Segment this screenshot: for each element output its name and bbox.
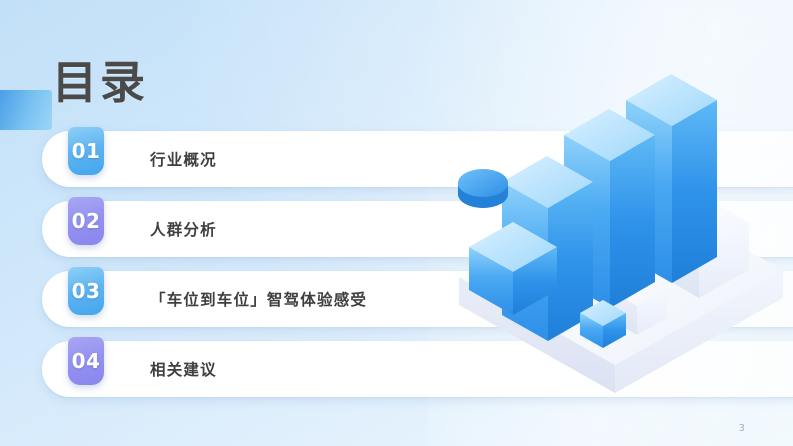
contents-item-badge: 01 <box>68 127 104 175</box>
title-accent-bar <box>0 90 52 130</box>
isometric-bar-chart-illustration <box>449 55 793 430</box>
contents-item-badge: 02 <box>68 197 104 245</box>
contents-item-badge: 03 <box>68 267 104 315</box>
contents-item-label: 人群分析 <box>150 201 217 257</box>
contents-item-number: 03 <box>72 279 101 303</box>
contents-item-badge: 04 <box>68 337 104 385</box>
contents-item-number: 04 <box>72 349 101 373</box>
contents-item-number: 02 <box>72 209 101 233</box>
contents-item-number: 01 <box>72 139 101 163</box>
floating-coin <box>458 169 508 208</box>
slide-canvas: 目录 01 行业概况 02 人群分析 03 「车位到车位」智驾体验感受 <box>0 0 793 446</box>
page-number: 3 <box>739 423 745 434</box>
page-title: 目录 <box>52 59 148 106</box>
contents-item-label: 行业概况 <box>150 131 217 187</box>
contents-item-label: 相关建议 <box>150 341 217 397</box>
contents-item-label: 「车位到车位」智驾体验感受 <box>150 271 367 327</box>
